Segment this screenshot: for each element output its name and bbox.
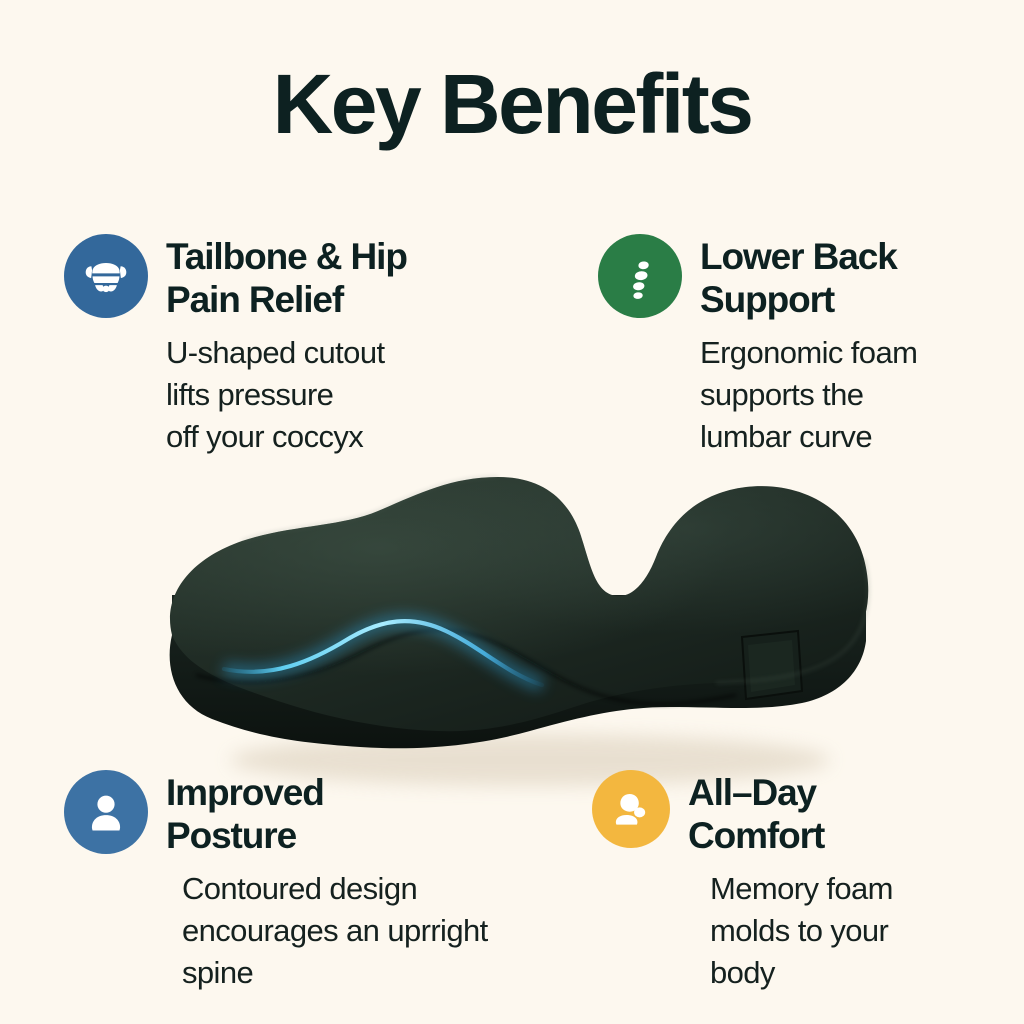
benefit-description-line: lumbar curve [700,419,872,454]
benefit-description-line: Memory foam [710,871,893,906]
benefit-description-line: off your coccyx [166,419,363,454]
benefit-description-line: Ergonomic foam [700,335,917,370]
benefit-description-line: encourages an uprright [182,913,488,948]
benefit-lower-back-support: Lower Back Support Ergonomic foam suppor… [598,232,1018,458]
benefit-title: Improved Posture [166,768,324,858]
benefit-description: Contoured design encourages an uprright … [182,868,584,994]
benefit-description: Memory foam molds to your body [710,868,992,994]
benefit-description-line: supports the [700,377,863,412]
benefit-title-line: Comfort [688,815,824,856]
benefit-header: Improved Posture [64,768,584,858]
benefit-title-line: Tailbone & Hip [166,236,407,277]
benefit-description-line: Contoured design [182,871,417,906]
benefit-description: U-shaped cutout lifts pressure off your … [166,332,524,458]
benefit-title-line: Pain Relief [166,279,343,320]
key-benefits-infographic: Key Benefits Tailbone & Hip [0,0,1024,1024]
cushion-side-handle [742,631,802,699]
product-image-memory-foam-cushion [150,455,890,815]
benefit-title-line: Lower Back [700,236,897,277]
benefit-description-line: body [710,955,775,990]
benefit-title: Lower Back Support [700,232,897,322]
pelvis-icon [64,234,148,318]
benefit-header: Lower Back Support [598,232,1018,322]
benefit-title-line: Support [700,279,834,320]
spine-icon [598,234,682,318]
benefit-title-line: All–Day [688,772,816,813]
benefit-title: Tailbone & Hip Pain Relief [166,232,407,322]
benefit-description-line: spine [182,955,253,990]
benefit-title-line: Posture [166,815,296,856]
benefit-header: All–Day Comfort [592,768,992,858]
benefit-description-line: molds to your [710,913,888,948]
benefit-improved-posture: Improved Posture Contoured design encour… [64,768,584,994]
person-icon [64,770,148,854]
benefit-description-line: U-shaped cutout [166,335,384,370]
benefit-header: Tailbone & Hip Pain Relief [64,232,524,322]
benefit-description-line: lifts pressure [166,377,333,412]
benefit-description: Ergonomic foam supports the lumbar curve [700,332,1018,458]
page-title: Key Benefits [0,62,1024,146]
comfort-cushion-icon [592,770,670,848]
benefit-all-day-comfort: All–Day Comfort Memory foam molds to you… [592,768,992,994]
benefit-title-line: Improved [166,772,324,813]
benefit-title: All–Day Comfort [688,768,824,858]
benefit-tailbone-hip-pain-relief: Tailbone & Hip Pain Relief U-shaped cuto… [64,232,524,458]
